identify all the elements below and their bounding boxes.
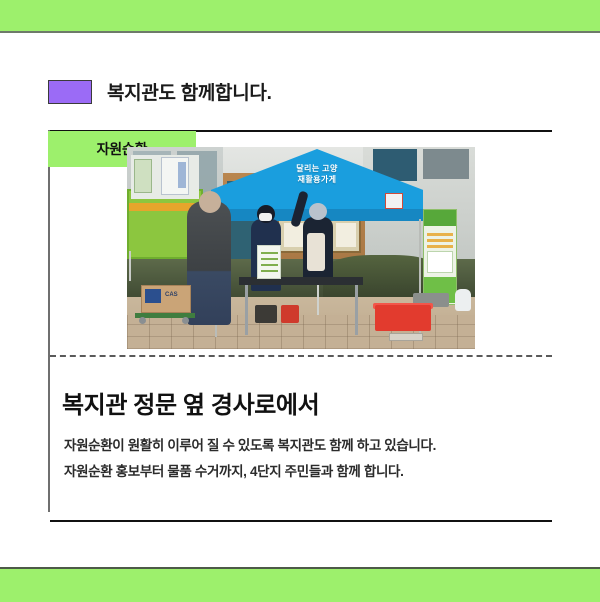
photo-red-crate [375, 305, 431, 331]
section-body: 자원순환이 원활히 이루어 질 수 있도록 복지관도 함께 하고 있습니다. 자… [64, 433, 544, 485]
photo-cart-handle [129, 251, 131, 281]
photo-person-visitor-head [199, 191, 221, 213]
photo-person-volunteer-b-head [309, 203, 327, 220]
photo-banner-header [424, 210, 456, 226]
photo-leaflet-stand [257, 245, 281, 279]
photo-banner-row-b [427, 239, 453, 242]
content-card: 자원순환 [48, 130, 552, 522]
photo-tent-logo-badge [385, 193, 403, 209]
section-headline: 복지관 정문 옆 경사로에서 [62, 385, 319, 420]
photo-white-bag [455, 289, 471, 311]
dashed-divider [50, 355, 552, 357]
event-photo: 달리는 고양 재활용가게 [127, 147, 475, 349]
photo-cart-wheel-right [182, 317, 189, 324]
page-title-row: 복지관도 함께합니다. [48, 78, 272, 105]
photo-banner-row-c [427, 245, 453, 248]
photo-kiosk-poster-b [161, 157, 189, 195]
photo-weighing-scale [389, 333, 423, 341]
photo-person-volunteer-a-mask [259, 213, 272, 221]
photo-banner-box [427, 251, 453, 273]
photo-tent-text: 달리는 고양 재활용가게 [211, 163, 423, 185]
photo-hand-cart: CAS [135, 277, 193, 325]
photo-box-brand-text: CAS [165, 292, 178, 298]
top-banner-bar [0, 0, 600, 33]
photo-cart-wheel-left [139, 317, 146, 324]
photo-panel-dark-b [423, 149, 469, 179]
photo-table-leg-right [355, 285, 358, 335]
photo-kiosk-poster-a [134, 159, 152, 193]
photo-person-volunteer-b-apron [307, 233, 325, 271]
photo-box-label [145, 289, 161, 303]
photo-tent-text-line2: 재활용가게 [298, 175, 337, 184]
photo-table-leg-left [245, 285, 248, 335]
photo-stool [255, 305, 277, 323]
purple-square-icon [48, 80, 92, 104]
photo-red-bucket [281, 305, 299, 323]
bottom-banner-bar [0, 567, 600, 602]
photo-person-visitor [187, 201, 231, 325]
card-left-divider [48, 130, 50, 512]
card-bottom-divider [50, 520, 552, 522]
page-title: 복지관도 함께합니다. [107, 78, 272, 105]
event-photo-canvas: 달리는 고양 재활용가게 [127, 147, 475, 349]
photo-tent-text-line1: 달리는 고양 [296, 164, 337, 173]
body-line-1: 자원순환이 원활히 이루어 질 수 있도록 복지관도 함께 하고 있습니다. [64, 433, 544, 459]
body-line-2: 자원순환 홍보부터 물품 수거까지, 4단지 주민들과 함께 합니다. [64, 459, 544, 485]
photo-banner-row-a [427, 233, 453, 236]
